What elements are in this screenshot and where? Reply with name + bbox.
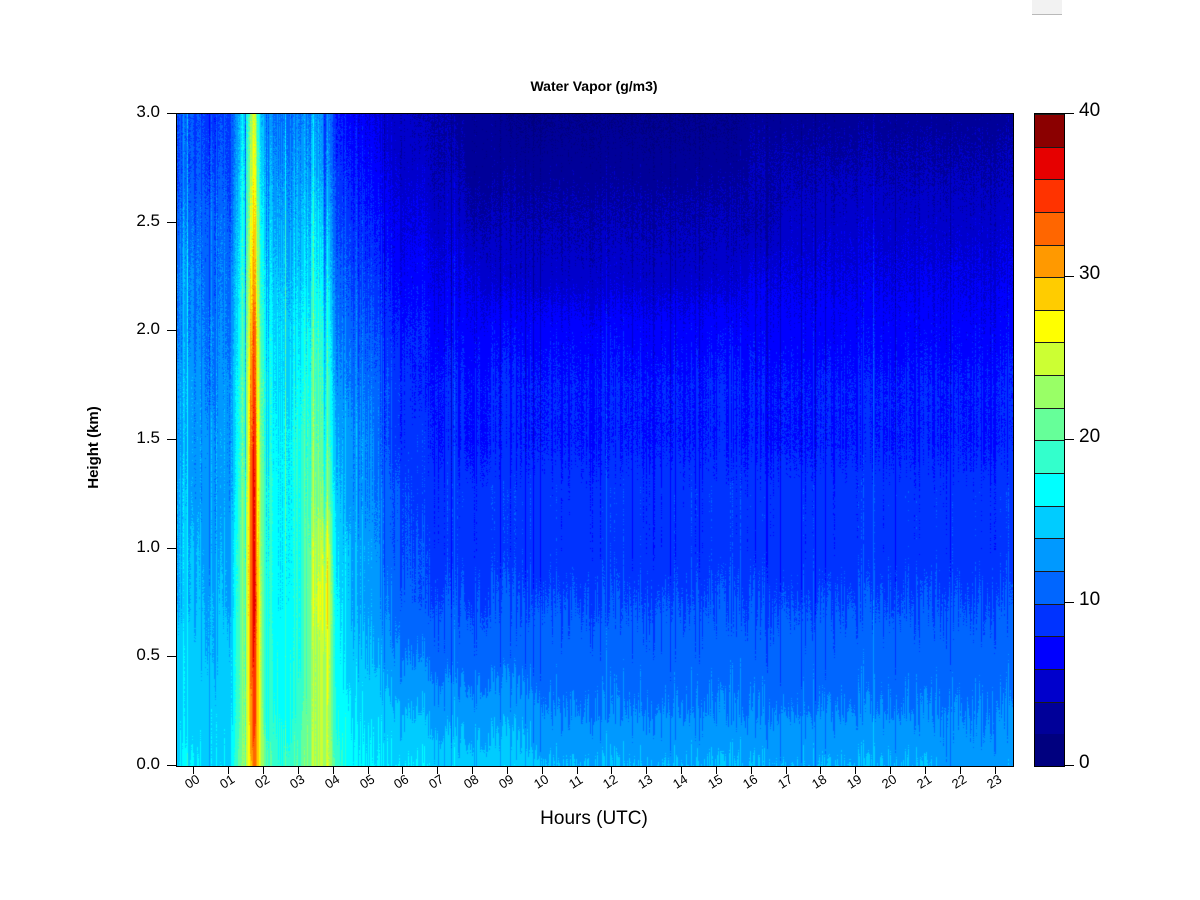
colorbar-band xyxy=(1035,375,1064,408)
x-axis-tick-label: 14 xyxy=(670,771,690,791)
colorbar-band xyxy=(1035,147,1064,180)
corner-artifact xyxy=(1032,0,1062,15)
colorbar-tick-label: 0 xyxy=(1079,752,1090,774)
x-axis-tick-label: 13 xyxy=(635,771,655,791)
colorbar-tick xyxy=(1065,439,1074,440)
x-axis-tick-label: 10 xyxy=(531,771,551,791)
y-axis-tick-label: 2.0 xyxy=(98,319,160,339)
x-axis-tick-label: 16 xyxy=(740,771,760,791)
y-axis-tick xyxy=(167,222,176,223)
figure-canvas: Water Vapor (g/m3) Height (km) Hours (UT… xyxy=(0,0,1200,900)
x-axis-tick-label: 12 xyxy=(600,771,620,791)
colorbar-band xyxy=(1035,506,1064,539)
y-axis-tick xyxy=(167,439,176,440)
x-axis-tick-label: 01 xyxy=(217,771,237,791)
colorbar-band xyxy=(1035,440,1064,473)
x-axis-tick-label: 08 xyxy=(461,771,481,791)
colorbar-band xyxy=(1035,636,1064,669)
x-axis-tick-label: 09 xyxy=(496,771,516,791)
colorbar-band xyxy=(1035,212,1064,245)
x-axis-tick-label: 15 xyxy=(705,771,725,791)
x-axis-tick-label: 02 xyxy=(252,771,272,791)
x-axis-tick-label: 05 xyxy=(357,771,377,791)
colorbar-tick-label: 40 xyxy=(1079,100,1100,122)
y-axis-tick-label: 0.0 xyxy=(98,754,160,774)
y-axis-tick xyxy=(167,548,176,549)
colorbar-tick xyxy=(1065,765,1074,766)
colorbar-band xyxy=(1035,310,1064,343)
colorbar-band xyxy=(1035,408,1064,441)
colorbar xyxy=(1034,113,1065,767)
x-axis-tick-label: 04 xyxy=(322,771,342,791)
colorbar-band xyxy=(1035,669,1064,702)
x-axis-tick-label: 20 xyxy=(879,771,899,791)
x-axis-tick-label: 07 xyxy=(426,771,446,791)
colorbar-tick xyxy=(1065,276,1074,277)
colorbar-band xyxy=(1035,179,1064,212)
y-axis-tick-label: 1.5 xyxy=(98,428,160,448)
y-axis-tick xyxy=(167,765,176,766)
colorbar-band xyxy=(1035,245,1064,278)
x-axis-title: Hours (UTC) xyxy=(176,808,1012,830)
y-axis-tick xyxy=(167,330,176,331)
x-axis-tick-label: 23 xyxy=(984,771,1004,791)
colorbar-tick-label: 30 xyxy=(1079,263,1100,285)
colorbar-tick-label: 10 xyxy=(1079,589,1100,611)
y-axis-tick-label: 0.5 xyxy=(98,645,160,665)
colorbar-band xyxy=(1035,114,1064,147)
colorbar-band xyxy=(1035,342,1064,375)
x-axis-tick-label: 11 xyxy=(566,772,585,792)
y-axis-tick xyxy=(167,113,176,114)
colorbar-band xyxy=(1035,473,1064,506)
x-axis-tick-label: 18 xyxy=(809,771,829,791)
colorbar-tick xyxy=(1065,113,1074,114)
page-title: Water Vapor (g/m3) xyxy=(176,78,1012,94)
y-axis-tick-label: 2.5 xyxy=(98,211,160,231)
x-axis-tick-label: 06 xyxy=(391,771,411,791)
y-axis-tick-label: 3.0 xyxy=(98,102,160,122)
y-axis-tick-label: 1.0 xyxy=(98,537,160,557)
x-axis-tick-label: 21 xyxy=(914,771,934,791)
x-axis-tick-label: 00 xyxy=(182,771,202,791)
x-axis-tick-label: 22 xyxy=(949,771,969,791)
x-axis-tick-label: 03 xyxy=(287,771,307,791)
colorbar-band xyxy=(1035,571,1064,604)
colorbar-band xyxy=(1035,277,1064,310)
colorbar-band xyxy=(1035,538,1064,571)
colorbar-band xyxy=(1035,604,1064,637)
y-axis-tick xyxy=(167,656,176,657)
colorbar-tick-label: 20 xyxy=(1079,426,1100,448)
x-axis-tick-label: 19 xyxy=(844,771,864,791)
colorbar-tick xyxy=(1065,602,1074,603)
colorbar-band xyxy=(1035,702,1064,735)
heatmap-plot-area xyxy=(176,113,1014,767)
water-vapor-field xyxy=(177,114,1013,766)
colorbar-band xyxy=(1035,734,1064,766)
x-axis-tick-label: 17 xyxy=(775,771,795,791)
